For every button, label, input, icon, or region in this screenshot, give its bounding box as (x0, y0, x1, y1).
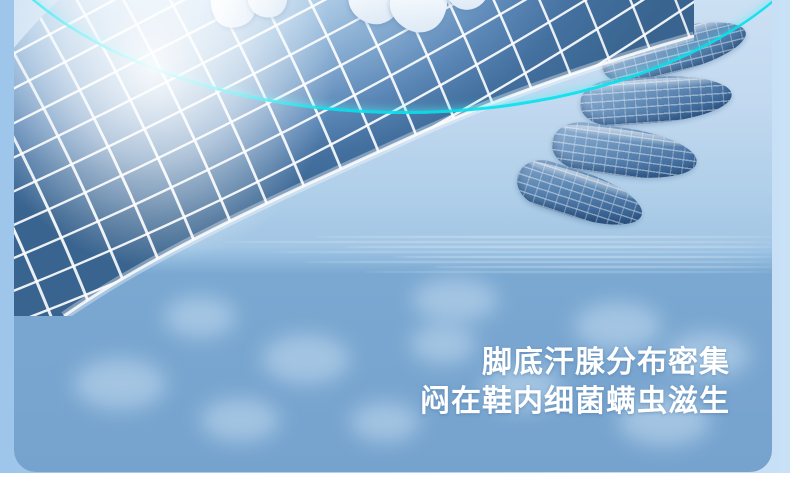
caption-line-1: 脚底汗腺分布密集 (420, 343, 730, 383)
caption-line-2: 闷在鞋内细菌螨虫滋生 (420, 382, 730, 422)
bottom-white-strip (0, 473, 790, 480)
content-panel: 脚底汗腺分布密集 闷在鞋内细菌螨虫滋生 (14, 0, 772, 472)
toe-body (578, 71, 733, 127)
screenshot-root: 脚底汗腺分布密集 闷在鞋内细菌螨虫滋生 (0, 0, 790, 480)
toe (578, 71, 733, 127)
caption-block: 脚底汗腺分布密集 闷在鞋内细菌螨虫滋生 (420, 343, 730, 422)
